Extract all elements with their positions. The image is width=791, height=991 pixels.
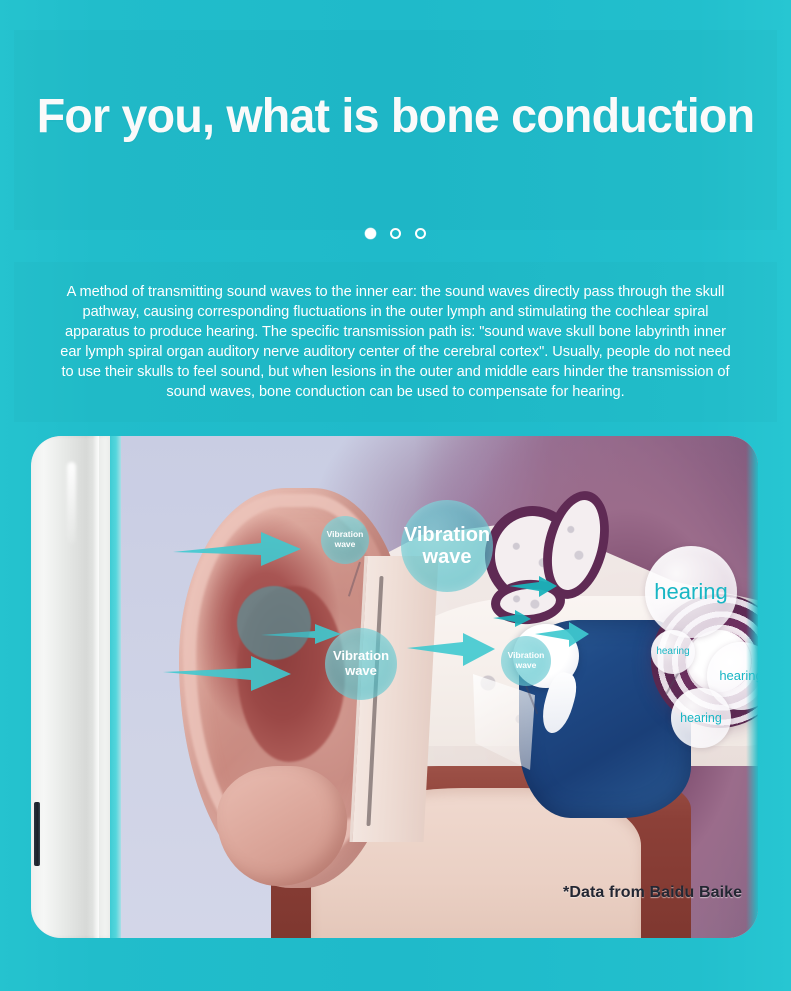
hearing-bubble-large: hearing: [645, 546, 737, 638]
device-seam-strip: [110, 436, 121, 938]
device-edge-highlight: [93, 436, 99, 938]
carousel-dot-2[interactable]: [390, 228, 401, 239]
sound-arrow-icon: [407, 632, 497, 668]
sound-arrow-icon: [163, 654, 293, 694]
sound-arrow-icon: [509, 576, 559, 598]
device-gloss-highlight: [67, 462, 76, 544]
vibration-wave-bubble-middle: Vibration wave: [501, 636, 551, 686]
carousel-dot-1[interactable]: [365, 228, 376, 239]
page-title-wrapper: For you, what is bone conduction: [0, 92, 791, 142]
sound-arrow-icon: [493, 610, 533, 628]
hearing-bubble-small: hearing: [651, 630, 695, 674]
device-side-button[interactable]: [34, 802, 40, 866]
page-title: For you, what is bone conduction: [29, 92, 761, 142]
anatomy-image-card: Vibration wave Vibration wave Vibration …: [31, 436, 758, 938]
hearing-bubble-lower: hearing: [671, 688, 731, 748]
vibration-wave-bubble-bone: Vibration wave: [325, 628, 397, 700]
carousel-dots: [0, 228, 791, 239]
source-caption: *Data from Baidu Baike: [563, 884, 742, 902]
carousel-dot-3[interactable]: [415, 228, 426, 239]
sound-arrow-icon: [173, 530, 303, 570]
device-body: [31, 436, 110, 938]
description-text: A method of transmitting sound waves to …: [56, 282, 735, 402]
vibration-wave-bubble-canal: Vibration wave: [321, 516, 369, 564]
card-right-edge-strip: [746, 436, 758, 938]
ear-anatomy-illustration: Vibration wave Vibration wave Vibration …: [121, 436, 758, 938]
contact-point-circle: [237, 586, 311, 660]
vibration-wave-bubble-large: Vibration wave: [401, 500, 493, 592]
page-root: For you, what is bone conduction A metho…: [0, 0, 791, 991]
